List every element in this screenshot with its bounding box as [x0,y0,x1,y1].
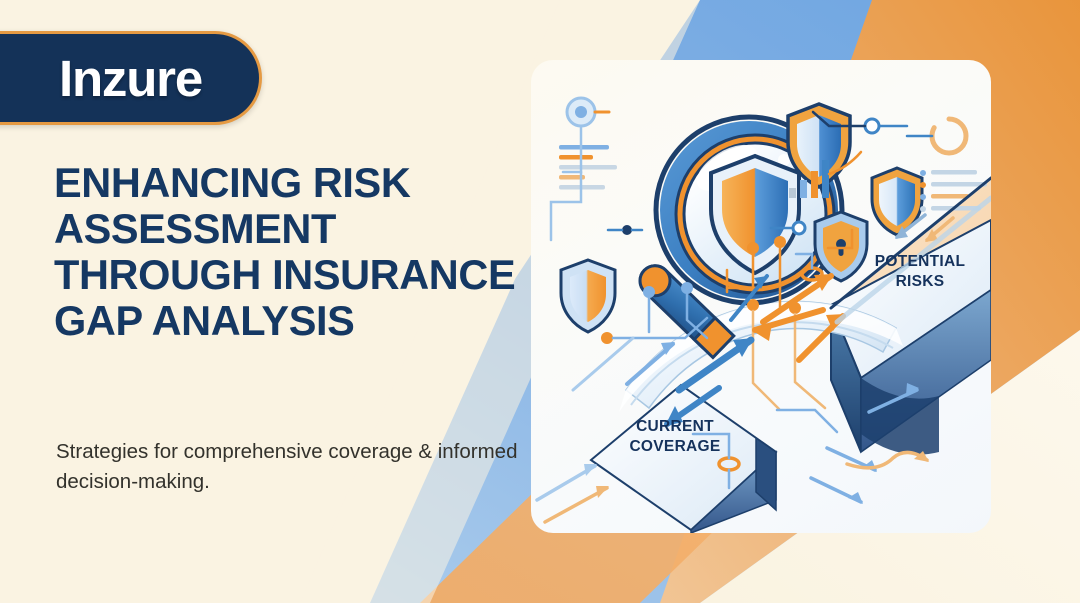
risk-gap-illustration [531,60,991,533]
page-title: ENHANCING RISK ASSESSMENT THROUGH INSURA… [54,160,524,344]
label-current-coverage: CURRENT COVERAGE [615,417,735,457]
banner-canvas: Inzure ENHANCING RISK ASSESSMENT THROUGH… [0,0,1080,603]
label-potential-risks: POTENTIAL RISKS [860,252,980,292]
coverage-platform [591,385,776,533]
brand-name: Inzure [59,53,202,104]
list-lines-icon-left [559,145,617,190]
brand-logo-badge[interactable]: Inzure [0,31,262,125]
illustration-card [531,60,991,533]
page-subtitle: Strategies for comprehensive coverage & … [56,437,526,497]
shield-icon-left [561,260,615,332]
